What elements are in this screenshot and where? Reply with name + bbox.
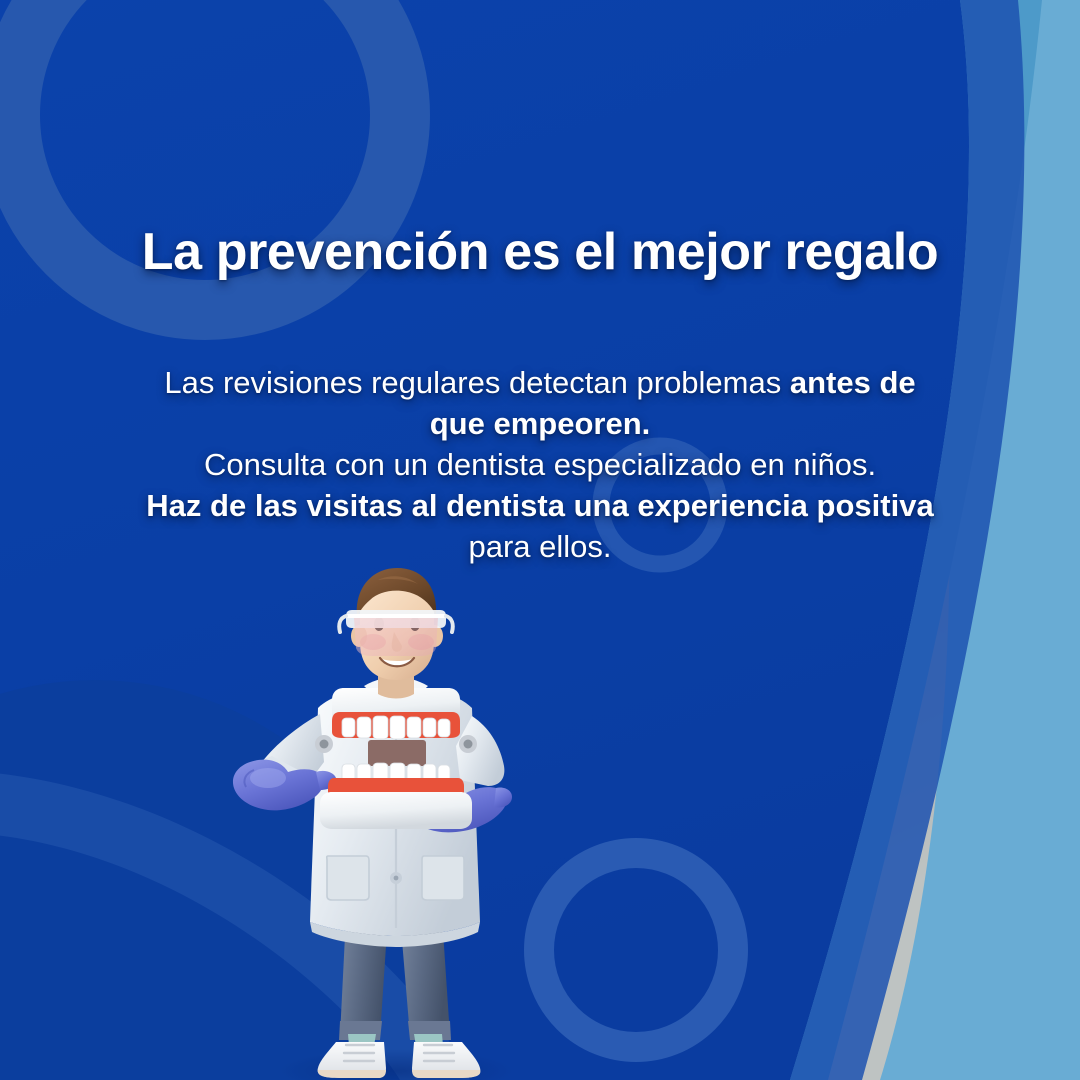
model-mouth-cavity: [368, 740, 426, 766]
poster-canvas: La prevención es el mejor regalo Las rev…: [0, 0, 1080, 1080]
safety-glasses-icon: [339, 610, 453, 656]
dentist-character: [228, 566, 558, 1080]
character-head: [339, 568, 453, 699]
